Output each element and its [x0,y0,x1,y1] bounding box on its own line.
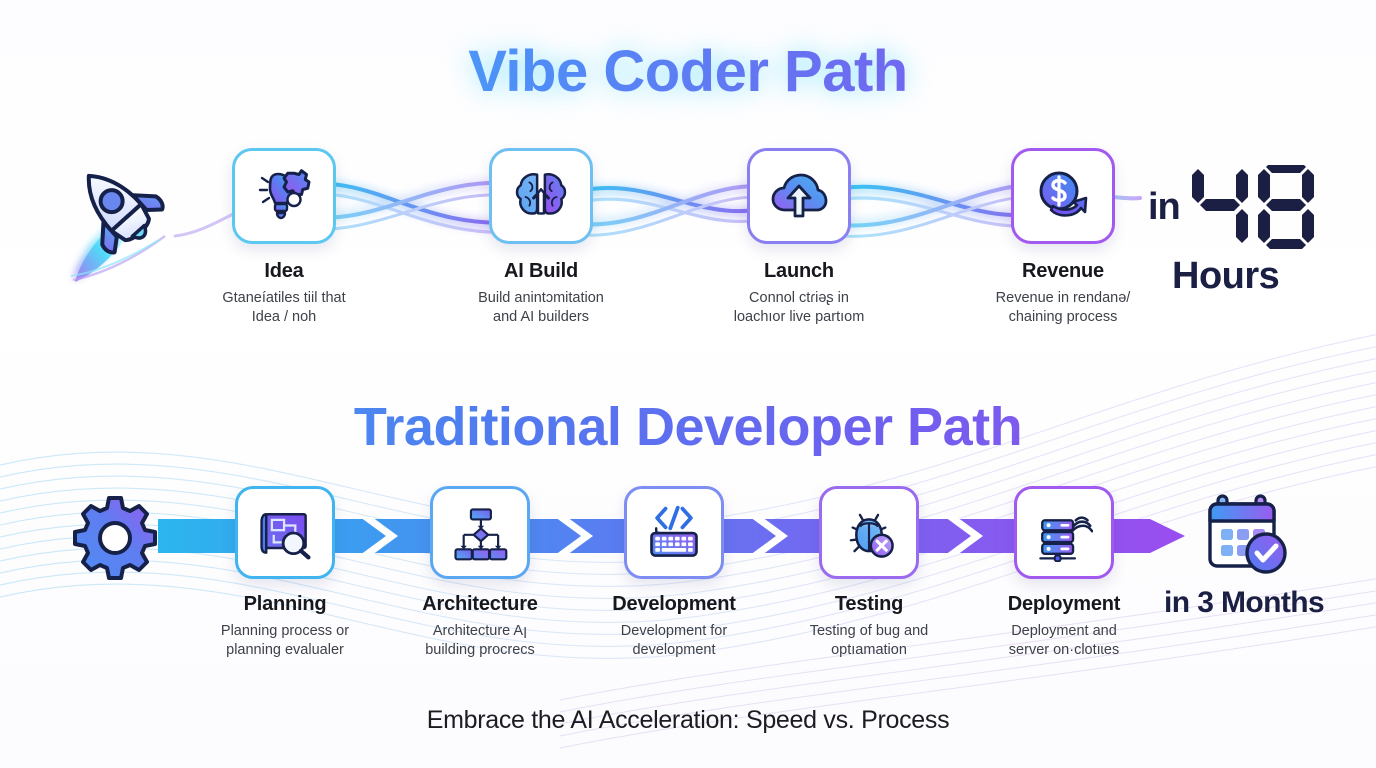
server-wifi-icon [1035,504,1093,562]
step-revenue-desc-line1: Revenue in rendanǝ/ [978,289,1148,308]
vibe-result-prefix: in [1148,186,1180,229]
step-deployment-desc-line1: Deployment and [984,622,1144,641]
traditional-result-duration: in 3 Months [1164,586,1324,620]
vibe-result-duration: in [1148,165,1358,298]
step-ai-build[interactable]: AI Build Build anintɔmitation and AI bui… [456,148,626,328]
step-launch[interactable]: Launch Connol ctɾiǝʂ in loachıor live pa… [714,148,884,328]
step-development-title: Development [594,593,754,616]
step-development-desc-line2: development [594,641,754,660]
step-planning-desc-line1: Planning process or [205,622,365,641]
step-ai-build-title: AI Build [456,260,626,283]
lightbulb-gear-icon [252,164,316,228]
step-architecture-desc-line2: building procrecs [400,641,560,660]
step-idea-card[interactable] [232,148,336,244]
step-idea-desc-line2: Idea / noh [199,308,369,327]
infographic-canvas: Vibe Coder Path Vibe Coder Path Traditio… [0,0,1376,768]
step-planning-desc-line2: planning evalualer [205,641,365,660]
step-revenue-desc-line2: chaining process [978,308,1148,327]
step-deployment-desc-line2: server on·clotıɩes [984,641,1144,660]
step-idea-title: Idea [199,260,369,283]
step-planning-title: Planning [205,593,365,616]
step-testing-card[interactable] [819,486,919,579]
step-deployment-card[interactable] [1014,486,1114,579]
step-development-card[interactable] [624,486,724,579]
step-development[interactable]: Development Development for development [594,486,754,661]
brain-arrow-icon [510,165,572,227]
bug-error-icon [840,504,898,562]
step-testing-desc-line1: Testing of bug and [789,622,949,641]
step-revenue-title: Revenue [978,260,1148,283]
step-idea-desc-line1: Gtaneíatiles tiіl that [199,289,369,308]
traditional-path-title: Traditional Developer Path [0,396,1376,458]
step-launch-desc-line1: Connol ctɾiǝʂ in [714,289,884,308]
step-planning-card[interactable] [235,486,335,579]
step-development-desc-line1: Development for [594,622,754,641]
step-architecture-desc-line1: Architecture Aꞁ [400,622,560,641]
step-idea[interactable]: Idea Gtaneíatiles tiіl that Idea / noh [199,148,369,328]
step-architecture-title: Architecture [400,593,560,616]
step-ai-build-desc-line1: Build anintɔmitation [456,289,626,308]
footer-caption: Embrace the AI Acceleration: Speed vs. P… [0,706,1376,735]
step-testing-desc-line2: optıamation [789,641,949,660]
vibe-path-title: Vibe Coder Path [0,38,1376,105]
flowchart-icon [451,504,509,562]
cloud-upload-icon [767,164,831,228]
step-launch-title: Launch [714,260,884,283]
dollar-coin-arrow-icon [1031,164,1095,228]
vibe-result-unit: Hours [1172,255,1358,298]
step-deployment[interactable]: Deployment Deployment and server on·clot… [984,486,1144,661]
keyboard-code-icon [644,503,704,563]
step-ai-build-card[interactable] [489,148,593,244]
step-ai-build-desc-line2: and AI builders [456,308,626,327]
step-launch-card[interactable] [747,148,851,244]
calendar-check-icon [1202,488,1294,580]
step-architecture-card[interactable] [430,486,530,579]
step-testing[interactable]: Testing Testing of bug and optıamation [789,486,949,661]
gear-icon [72,494,158,580]
step-architecture[interactable]: Architecture Architecture Aꞁ building pr… [400,486,560,661]
step-launch-desc-line2: loachıor live partıom [714,308,884,327]
blueprint-search-icon [255,503,315,563]
rocket-icon [55,148,195,288]
step-revenue[interactable]: Revenue Revenue in rendanǝ/ chaining pro… [978,148,1148,328]
step-revenue-card[interactable] [1011,148,1115,244]
step-deployment-title: Deployment [984,593,1144,616]
seven-segment-48 [1192,165,1318,249]
step-testing-title: Testing [789,593,949,616]
step-planning[interactable]: Planning Planning process or planning ev… [205,486,365,661]
